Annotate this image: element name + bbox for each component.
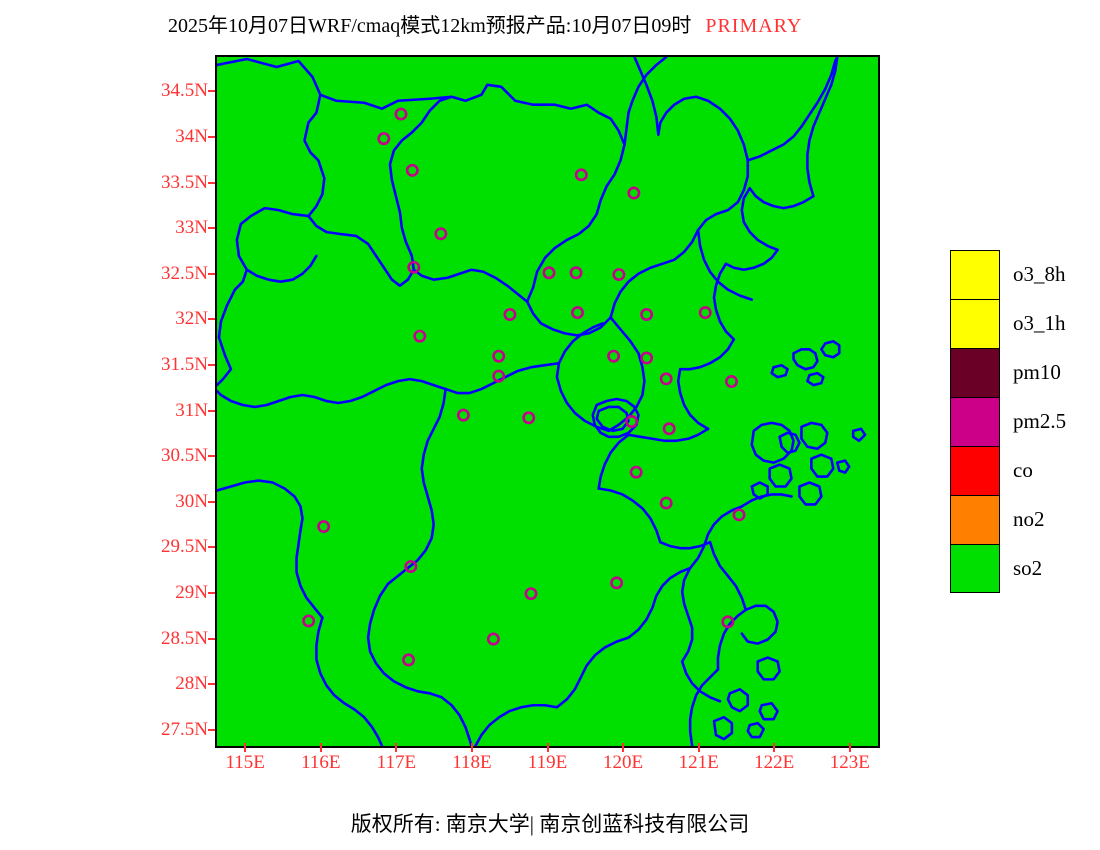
legend-item-o3-8h[interactable]: o3_8h	[950, 250, 1096, 299]
y-axis-tick-label: 29N	[175, 582, 208, 604]
legend-item-label: pm2.5	[1013, 409, 1066, 434]
x-axis-tick-label: 115E	[226, 752, 265, 774]
legend-item-pm10[interactable]: pm10	[950, 348, 1096, 397]
legend-color-swatch	[950, 446, 1000, 495]
y-axis-tick-label: 34N	[175, 126, 208, 148]
legend-color-swatch	[950, 397, 1000, 446]
x-axis-tick-mark	[547, 743, 549, 752]
legend-color-swatch	[950, 299, 1000, 348]
legend-color-swatch	[950, 250, 1000, 299]
y-axis-tick-label: 29.5N	[161, 536, 208, 558]
legend-item-label: no2	[1013, 507, 1045, 532]
title-main-text: 2025年10月07日WRF/cmaq模式12km预报产品:10月07日09时	[168, 15, 691, 37]
legend-item-label: o3_1h	[1013, 311, 1066, 336]
x-axis-tick-label: 122E	[754, 752, 794, 774]
x-axis-tick-label: 116E	[301, 752, 340, 774]
legend-item-label: pm10	[1013, 360, 1061, 385]
y-axis-tick-label: 28N	[175, 673, 208, 695]
x-axis-tick-mark	[395, 743, 397, 752]
x-axis-tick-mark	[320, 743, 322, 752]
y-axis-tick-label: 34.5N	[161, 80, 208, 102]
x-axis: 115E116E117E118E119E120E121E122E123E	[215, 752, 880, 782]
legend-item-label: co	[1013, 458, 1033, 483]
legend-item-label: so2	[1013, 556, 1042, 581]
y-axis-tick-label: 31.5N	[161, 354, 208, 376]
title-primary-text: PRIMARY	[705, 15, 802, 37]
page-title: 2025年10月07日WRF/cmaq模式12km预报产品:10月07日09时P…	[168, 12, 998, 40]
x-axis-tick-mark	[773, 743, 775, 752]
legend-color-swatch	[950, 348, 1000, 397]
y-axis-tick-label: 30.5N	[161, 445, 208, 467]
legend-item-co[interactable]: co	[950, 446, 1096, 495]
x-axis-tick-label: 120E	[603, 752, 643, 774]
legend-color-swatch	[950, 544, 1000, 593]
legend-item-label: o3_8h	[1013, 262, 1066, 287]
legend-item-pm2-5[interactable]: pm2.5	[950, 397, 1096, 446]
x-axis-tick-mark	[471, 743, 473, 752]
legend-item-o3-1h[interactable]: o3_1h	[950, 299, 1096, 348]
y-axis-tick-label: 27.5N	[161, 719, 208, 741]
forecast-map-page: 2025年10月07日WRF/cmaq模式12km预报产品:10月07日09时P…	[0, 0, 1100, 850]
x-axis-tick-label: 121E	[679, 752, 719, 774]
legend: o3_8ho3_1hpm10pm2.5cono2so2	[950, 250, 1096, 593]
copyright-footer: 版权所有: 南京大学| 南京创蓝科技有限公司	[0, 808, 1100, 838]
x-axis-tick-mark	[622, 743, 624, 752]
y-axis-tick-label: 31N	[175, 400, 208, 422]
legend-item-so2[interactable]: so2	[950, 544, 1096, 593]
y-axis-tick-label: 33.5N	[161, 172, 208, 194]
x-axis-tick-label: 119E	[528, 752, 567, 774]
x-axis-tick-label: 117E	[377, 752, 416, 774]
map-plot-frame[interactable]	[215, 55, 880, 748]
y-axis-tick-label: 32.5N	[161, 263, 208, 285]
y-axis-tick-label: 28.5N	[161, 628, 208, 650]
map-canvas[interactable]	[217, 57, 878, 746]
legend-color-swatch	[950, 495, 1000, 544]
x-axis-tick-mark	[244, 743, 246, 752]
legend-item-no2[interactable]: no2	[950, 495, 1096, 544]
x-axis-tick-label: 118E	[452, 752, 491, 774]
y-axis-tick-label: 32N	[175, 308, 208, 330]
x-axis-tick-label: 123E	[830, 752, 870, 774]
y-axis-tick-label: 33N	[175, 217, 208, 239]
y-axis-tick-label: 30N	[175, 491, 208, 513]
y-axis: 34.5N34N33.5N33N32.5N32N31.5N31N30.5N30N…	[130, 55, 208, 748]
x-axis-tick-mark	[698, 743, 700, 752]
x-axis-tick-mark	[849, 743, 851, 752]
